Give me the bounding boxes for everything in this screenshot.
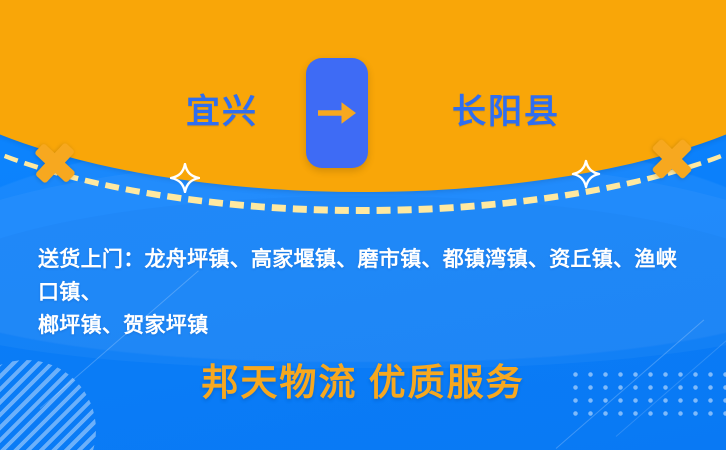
logistics-route-banner: 宜兴 长阳县 送货上门：龙舟坪镇、高家堰镇、磨市镇、都镇湾镇、资丘镇、渔峡口镇、… (0, 0, 726, 450)
route-destination-label: 长阳县 (452, 93, 560, 133)
arrow-right-icon (316, 98, 358, 128)
sparkle-icon (571, 159, 601, 189)
delivery-coverage-text: 送货上门：龙舟坪镇、高家堰镇、磨市镇、都镇湾镇、资丘镇、渔峡口镇、 榔坪镇、贺家… (38, 243, 698, 342)
route-origin-label: 宜兴 (186, 93, 258, 133)
company-slogan: 邦天物流 优质服务 (0, 360, 726, 408)
route-arrow-badge (306, 58, 368, 168)
delivery-text-line-1: 送货上门：龙舟坪镇、高家堰镇、磨市镇、都镇湾镇、资丘镇、渔峡口镇、 (38, 243, 698, 309)
delivery-text-line-2: 榔坪镇、贺家坪镇 (38, 309, 698, 342)
sparkle-icon (170, 163, 200, 193)
